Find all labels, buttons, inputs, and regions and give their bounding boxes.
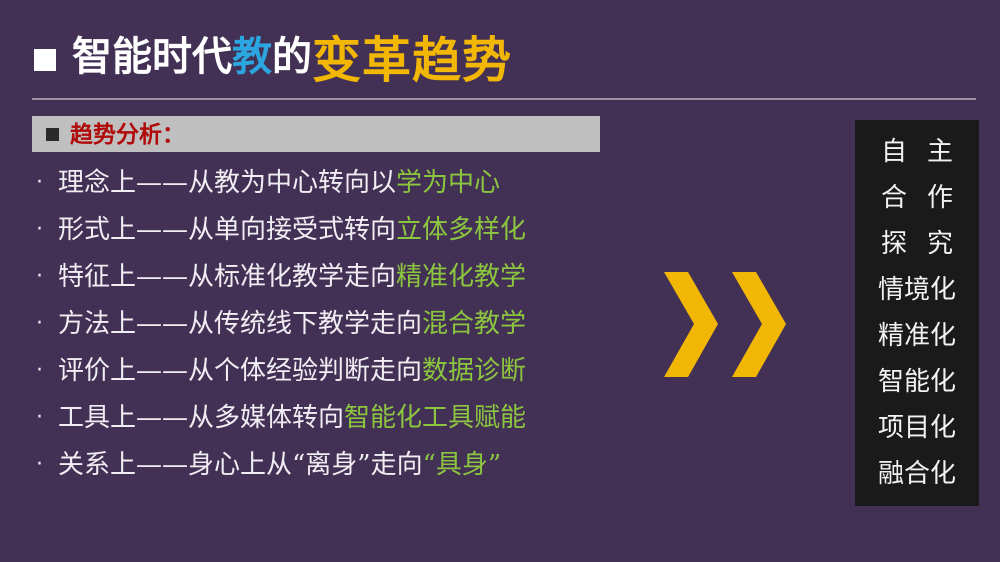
list-item-text: 关系上——身心上从“离身”走向“具身” [58,452,501,478]
keyword-panel: 自主 合作 探究 情境化 精准化 智能化 项目化 融合化 [855,120,979,506]
list-item-text: 评价上——从个体经验判断走向数据诊断 [58,358,526,384]
list-item-plain-text: 方法上——从传统线下教学走向 [58,309,422,339]
list-item-text: 形式上——从单向接受式转向立体多样化 [58,217,526,243]
list-item: · 特征上——从标准化教学走向精准化教学 [36,264,636,311]
list-item-accent-text: “具身” [423,450,502,480]
title-segment-plain-1: 智能时代 [72,37,232,77]
list-bullet-marker: · [36,266,58,288]
subsection-header-bar: 趋势分析： [32,116,600,152]
list-item-plain-text: 工具上——从多媒体转向 [58,403,344,433]
title-divider-rule [32,98,976,100]
list-item-accent-text: 数据诊断 [422,356,526,386]
list-item-accent-text: 混合教学 [422,309,526,339]
list-bullet-marker: · [36,360,58,382]
list-item-text: 特征上——从标准化教学走向精准化教学 [58,264,526,290]
list-item-plain-text: 评价上——从个体经验判断走向 [58,356,422,386]
title-segment-highlight-blue: 教 [232,37,272,77]
title-segment-highlight-gold: 变革趋势 [312,36,512,85]
list-bullet-marker: · [36,454,58,476]
keyword-item: 探究 [855,221,979,267]
list-item-accent-text: 精准化教学 [396,262,526,292]
list-bullet-marker: · [36,313,58,335]
subsection-header-label: 趋势分析： [70,123,185,146]
list-item: · 评价上——从个体经验判断走向数据诊断 [36,358,636,405]
list-item: · 关系上——身心上从“离身”走向“具身” [36,452,636,499]
list-item-plain-text: 形式上——从单向接受式转向 [58,215,396,245]
list-item-text: 工具上——从多媒体转向智能化工具赋能 [58,405,526,431]
list-item-accent-text: 智能化工具赋能 [344,403,526,433]
double-chevron-right-icon [660,272,790,377]
keyword-item: 项目化 [855,405,979,451]
list-item-plain-text: 特征上——从标准化教学走向 [58,262,396,292]
subsection-square-bullet-icon [46,128,59,141]
keyword-item: 合作 [855,175,979,221]
list-item: · 方法上——从传统线下教学走向混合教学 [36,311,636,358]
title-square-bullet-icon [34,49,56,71]
list-item: · 理念上——从教为中心转向以学为中心 [36,170,636,217]
list-item-text: 方法上——从传统线下教学走向混合教学 [58,311,526,337]
keyword-item: 精准化 [855,313,979,359]
title-segment-plain-2: 的 [272,37,312,77]
list-item-plain-text: 理念上——从教为中心转向以 [58,168,396,198]
chevron-right-icon-1 [660,272,722,377]
list-bullet-marker: · [36,407,58,429]
list-item-accent-text: 学为中心 [396,168,500,198]
keyword-item: 融合化 [855,451,979,497]
keyword-item: 自主 [855,129,979,175]
list-item: · 工具上——从多媒体转向智能化工具赋能 [36,405,636,452]
list-bullet-marker: · [36,172,58,194]
list-bullet-marker: · [36,219,58,241]
list-item-accent-text: 立体多样化 [396,215,526,245]
keyword-item: 智能化 [855,359,979,405]
list-item-text: 理念上——从教为中心转向以学为中心 [58,170,500,196]
slide-title: 智能时代 教 的 变革趋势 [34,26,512,88]
slide-canvas: 智能时代 教 的 变革趋势 趋势分析： · 理念上——从教为中心转向以学为中心 … [0,0,1000,562]
list-item: · 形式上——从单向接受式转向立体多样化 [36,217,636,264]
list-item-plain-text: 关系上——身心上从“离身”走向 [58,450,423,480]
trend-bullet-list: · 理念上——从教为中心转向以学为中心 · 形式上——从单向接受式转向立体多样化… [36,170,636,499]
keyword-item: 情境化 [855,267,979,313]
chevron-right-icon-2 [728,272,790,377]
